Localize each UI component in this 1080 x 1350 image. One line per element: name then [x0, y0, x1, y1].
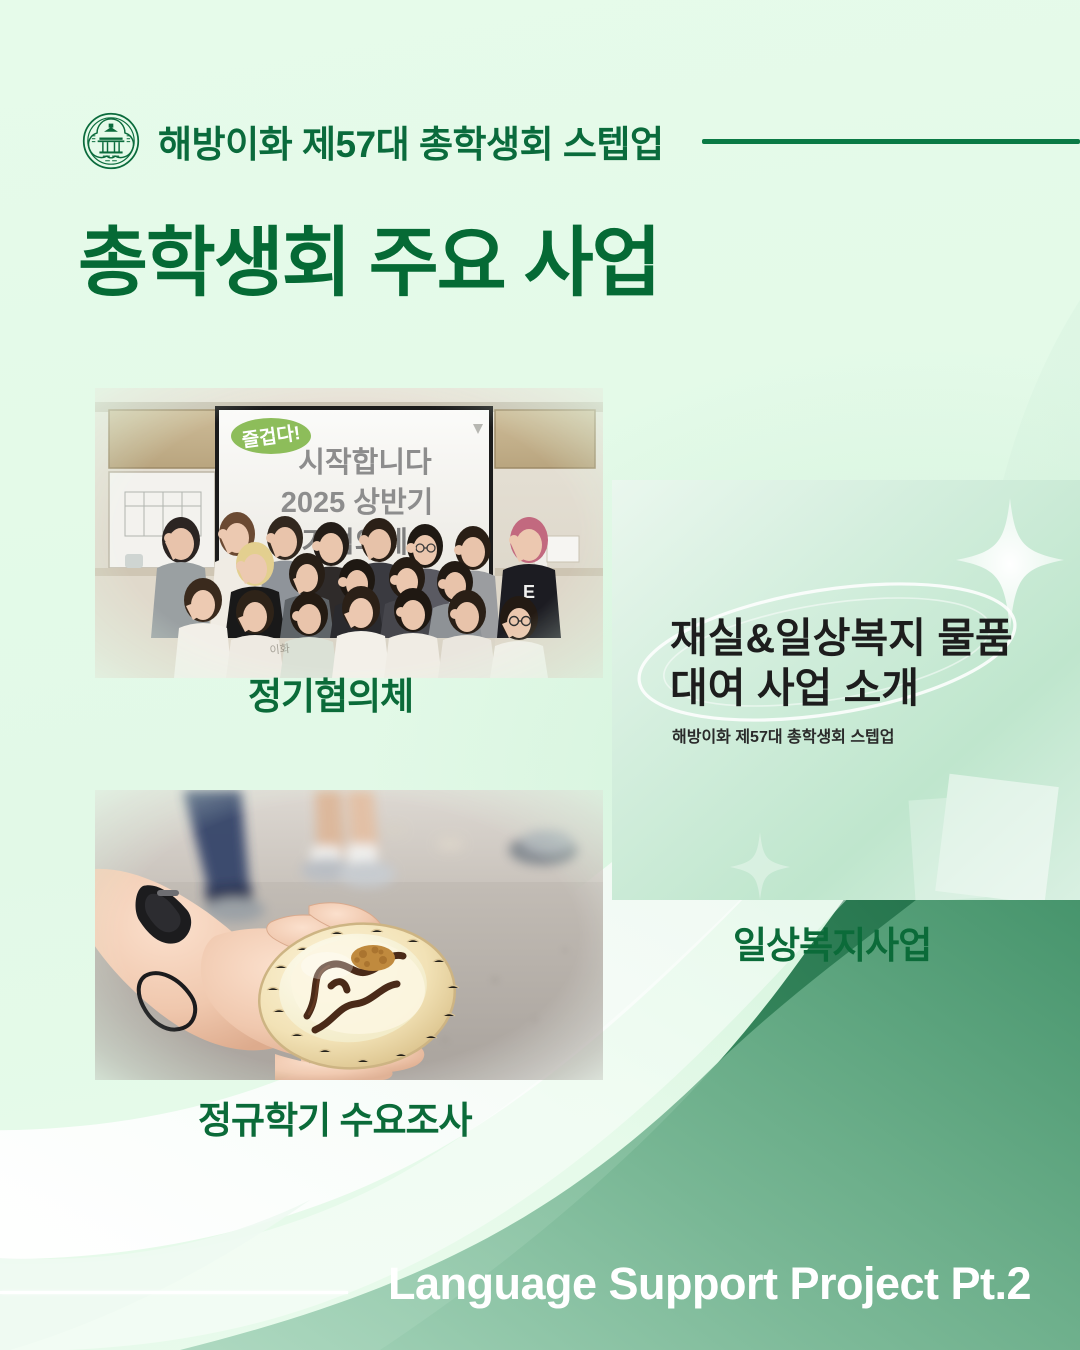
page-title: 총학생회 주요 사업	[78, 222, 660, 306]
svg-text:시작합니다: 시작합니다	[298, 446, 432, 479]
rental-service-promo-card: 재실&일상복지 물품 대여 사업 소개 해방이화 제57대 총학생회 스텝업	[612, 480, 1080, 900]
poster-canvas: deep green footer gradient	[0, 0, 1080, 1350]
caption-semester-demand-survey: 정규학기 수요조사	[198, 1090, 472, 1144]
header-title: 해방이화 제57대 총학생회 스텝업	[158, 114, 664, 168]
promo-title-line1: 재실&일상복지 물품	[670, 615, 1013, 661]
caption-periodic-council: 정기협의체	[248, 666, 413, 720]
header-bar: 해방이화 제57대 총학생회 스텝업	[82, 112, 1080, 170]
footer-title: Language Support Project Pt.2	[388, 1258, 1031, 1310]
ewha-university-crest-icon	[82, 112, 140, 170]
svg-text:이화: 이화	[269, 642, 290, 657]
header-divider-rule	[702, 139, 1080, 144]
promo-title-line2: 대여 사업 소개	[670, 665, 919, 711]
svg-text:2025 상반기: 2025 상반기	[281, 486, 434, 519]
caption-daily-welfare: 일상복지사업	[733, 915, 931, 969]
photo-periodic-council: 즐겁다! 시작합니다 2025 상반기 정기협의체!!	[95, 388, 603, 678]
photo-semester-demand-survey	[95, 790, 603, 1080]
promo-subtitle: 해방이화 제57대 총학생회 스텝업	[672, 727, 895, 746]
footer-divider-rule	[0, 1291, 348, 1294]
